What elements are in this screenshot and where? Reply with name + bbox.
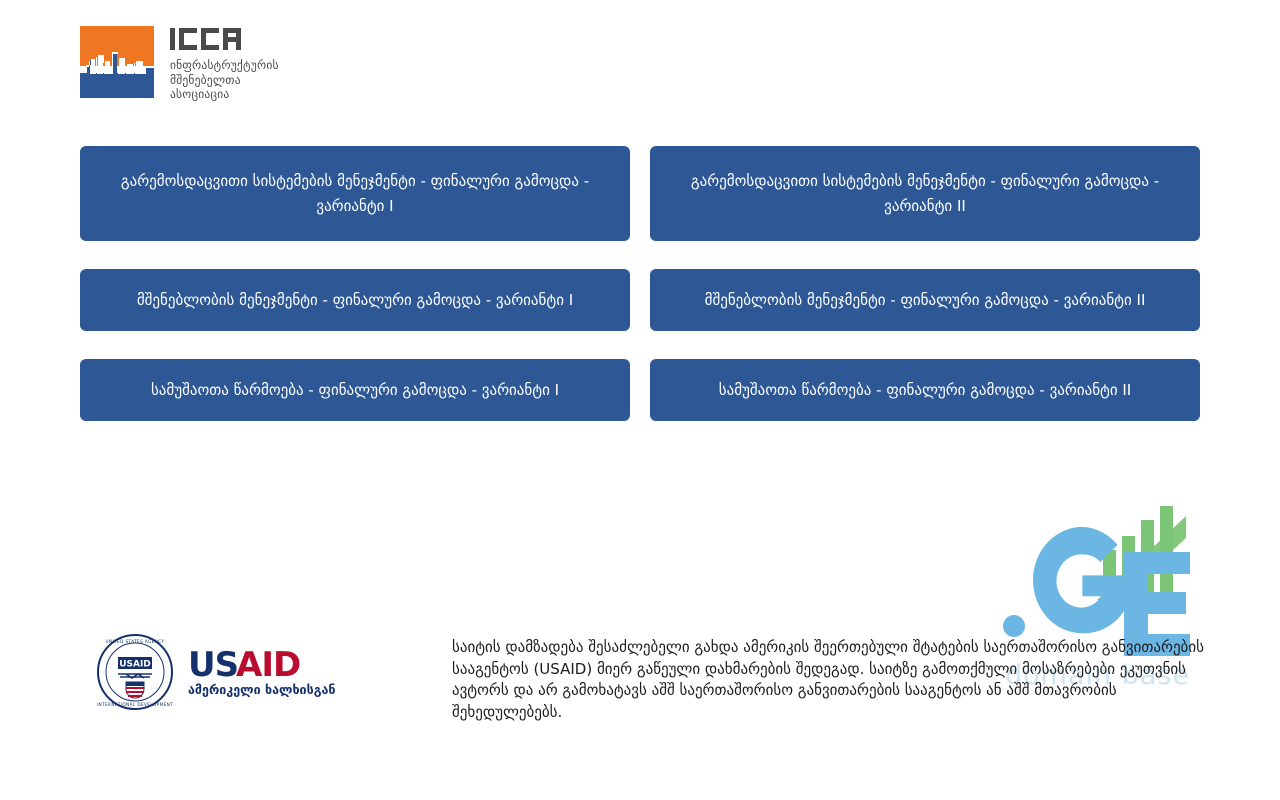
usaid-wordmark: US AID ამერიკელი ხალხისგან [188,644,336,704]
svg-text:INTERNATIONAL DEVELOPMENT: INTERNATIONAL DEVELOPMENT [97,702,173,707]
icca-wordmark [170,28,279,50]
brand-subtitle-line-2: მშენებელთა [170,73,279,88]
exam-button-env-systems-management-final-variant-2[interactable]: გარემოსდაცვითი სისტემების მენეჯმენტი - ფ… [650,146,1200,241]
exam-button-label: სამუშაოთა წარმოება - ფინალური გამოცდა - … [151,378,559,403]
brand-subtitle: ინფრასტრუქტურის მშენებელთა ასოციაცია [170,58,279,102]
svg-text:AID: AID [236,645,300,685]
exam-button-label: გარემოსდაცვითი სისტემების მენეჯმენტი - ფ… [674,169,1176,219]
svg-text:ამერიკელი ხალხისგან: ამერიკელი ხალხისგან [188,682,336,697]
exam-links-grid: გარემოსდაცვითი სისტემების მენეჯმენტი - ფ… [80,146,1200,421]
brand-subtitle-line-3: ასოციაცია [170,87,279,102]
svg-text:US: US [188,645,238,685]
exam-button-works-production-final-variant-2[interactable]: სამუშაოთა წარმოება - ფინალური გამოცდა - … [650,359,1200,421]
brand-subtitle-line-1: ინფრასტრუქტურის [170,58,279,73]
exam-button-works-production-final-variant-1[interactable]: სამუშაოთა წარმოება - ფინალური გამოცდა - … [80,359,630,421]
exam-button-label: მშენებლობის მენეჯმენტი - ფინალური გამოცდ… [137,288,573,313]
exam-button-label: მშენებლობის მენეჯმენტი - ფინალური გამოცდ… [705,288,1146,313]
icca-logo-mark [80,26,154,98]
exam-button-label: სამუშაოთა წარმოება - ფინალური გამოცდა - … [719,378,1132,403]
usaid-disclaimer-text: საიტის დამზადება შესაძლებელი გახდა ამერი… [452,637,1212,723]
usaid-logo: USAID UNITED STATES AGENCY INTERNATIONAL… [96,634,336,714]
exam-button-label: გარემოსდაცვითი სისტემების მენეჯმენტი - ფ… [104,169,606,219]
brand-text-block: ინფრასტრუქტურის მშენებელთა ასოციაცია [170,26,279,102]
svg-text:USAID: USAID [119,660,151,670]
exam-button-construction-management-final-variant-2[interactable]: მშენებლობის მენეჯმენტი - ფინალური გამოცდ… [650,269,1200,331]
site-header: ინფრასტრუქტურის მშენებელთა ასოციაცია [80,26,279,102]
svg-text:UNITED STATES AGENCY: UNITED STATES AGENCY [105,639,164,644]
exam-button-env-systems-management-final-variant-1[interactable]: გარემოსდაცვითი სისტემების მენეჯმენტი - ფ… [80,146,630,241]
usaid-seal-icon: USAID UNITED STATES AGENCY INTERNATIONAL… [96,633,174,715]
exam-button-construction-management-final-variant-1[interactable]: მშენებლობის მენეჯმენტი - ფინალური გამოცდ… [80,269,630,331]
